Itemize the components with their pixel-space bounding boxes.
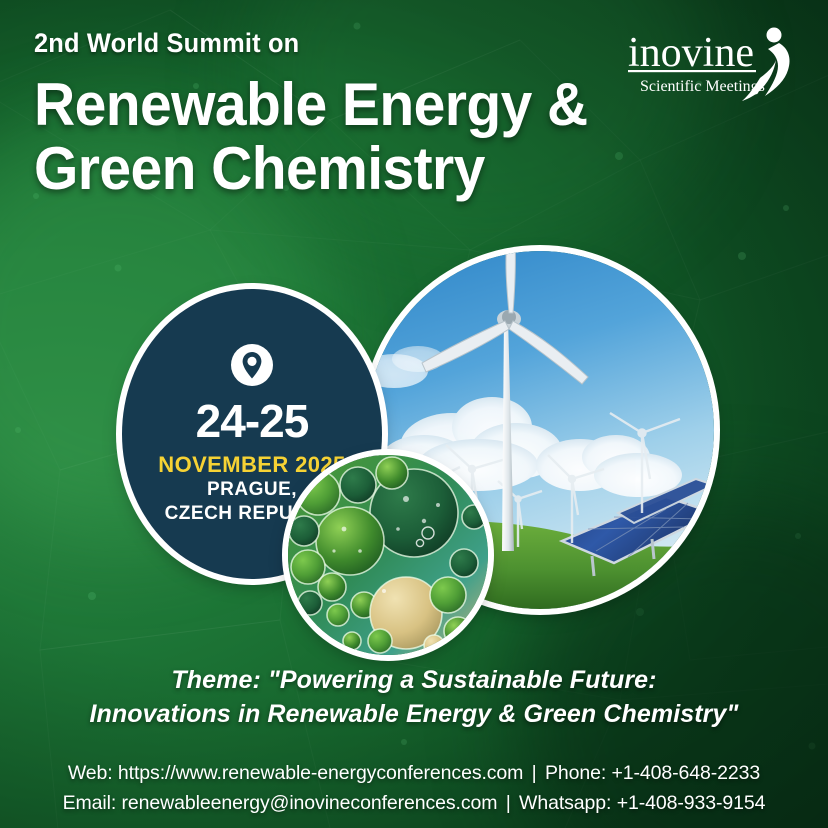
- algae-bubbles-illustration: [288, 455, 488, 655]
- green-chemistry-photo: [288, 455, 488, 655]
- whatsapp-label: Whatsapp:: [519, 792, 611, 814]
- contact-line-web: Web: https://www.renewable-energyconfere…: [0, 758, 828, 788]
- phone-label: Phone:: [545, 762, 606, 784]
- conference-poster: 2nd World Summit on Renewable Energy & G…: [0, 0, 828, 828]
- whatsapp-value[interactable]: +1-408-933-9154: [617, 792, 766, 814]
- location-pin-icon: [230, 343, 274, 387]
- contact-line-email: Email: renewableenergy@inovineconference…: [0, 788, 828, 818]
- inovine-logo: inovine Scientific Meetings: [622, 22, 802, 108]
- footer-separator: |: [529, 762, 540, 784]
- event-dates: 24-25: [196, 398, 309, 444]
- theme-line-2: Innovations in Renewable Energy & Green …: [40, 698, 788, 732]
- theme-line-1: Theme: "Powering a Sustainable Future:: [40, 664, 788, 698]
- email-value[interactable]: renewableenergy@inovineconferences.com: [122, 792, 498, 814]
- email-label: Email:: [63, 792, 117, 814]
- logo-tagline: Scientific Meetings: [640, 78, 765, 95]
- footer-separator-2: |: [503, 792, 514, 814]
- event-city: PRAGUE,: [207, 478, 297, 502]
- web-value[interactable]: https://www.renewable-energyconferences.…: [118, 762, 523, 784]
- contact-footer: Web: https://www.renewable-energyconfere…: [0, 758, 828, 818]
- web-label: Web:: [68, 762, 113, 784]
- logo-wordmark: inovine: [628, 30, 754, 76]
- phone-value[interactable]: +1-408-648-2233: [612, 762, 761, 784]
- location-pin-wrap: [230, 343, 274, 392]
- conference-theme: Theme: "Powering a Sustainable Future: I…: [40, 664, 788, 732]
- title-line-2: Green Chemistry: [34, 137, 756, 201]
